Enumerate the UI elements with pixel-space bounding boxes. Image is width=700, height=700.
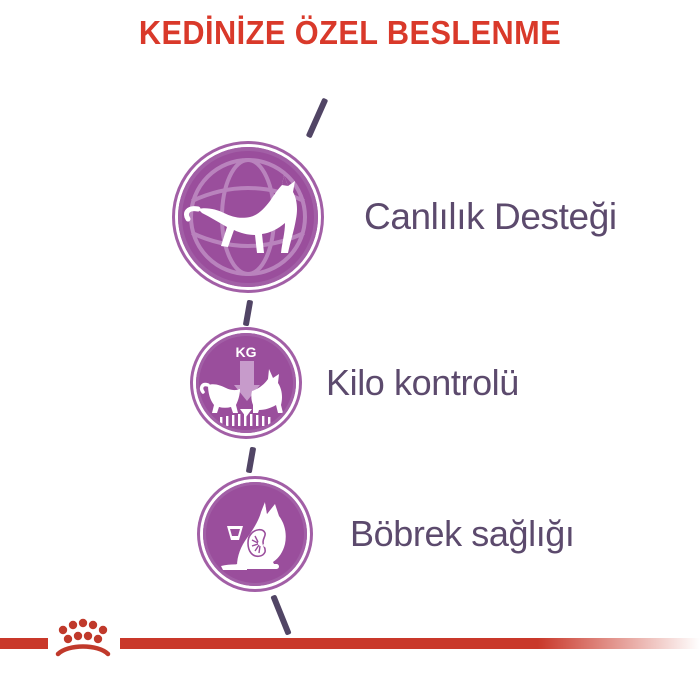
royal-canin-crown-logo [50,614,116,662]
feature-label-kidney-health: Böbrek sağlığı [350,513,575,555]
svg-text:KG: KG [236,344,257,360]
walking-cat-icon [178,147,318,287]
feature-item-kidney-health: Böbrek sağlığı [203,482,575,586]
kidney-cat-icon [203,482,307,586]
connector-dash-1-to-2 [243,300,253,327]
feature-item-weight-control: KG [196,333,519,433]
feature-label-vitality: Canlılık Desteği [364,196,617,238]
feature-label-weight-control: Kilo kontrolü [326,362,519,404]
weight-scale-cat-icon: KG [196,333,296,433]
connector-dash-2-to-3 [246,447,256,474]
connector-dash-bottom [270,594,291,635]
poster-canvas: KEDİNİZE ÖZEL BESLENME [0,0,700,700]
feature-item-vitality: Canlılık Desteği [178,147,617,287]
page-title: KEDİNİZE ÖZEL BESLENME [25,14,676,52]
brand-bar-right-segment [120,638,700,649]
brand-bar-left-segment [0,638,48,649]
connector-dash-top [306,98,329,139]
